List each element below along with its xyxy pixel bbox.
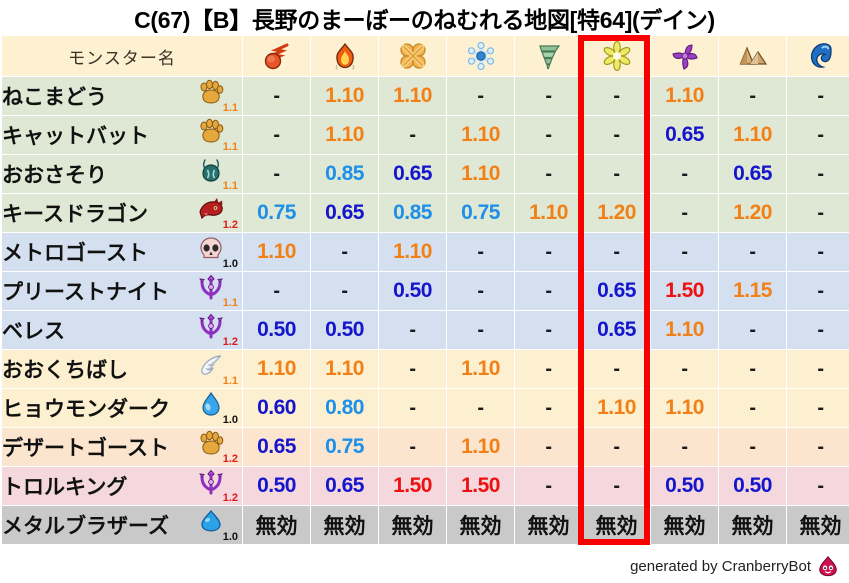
resistance-cell: -	[787, 116, 849, 154]
resistance-cell: -	[243, 77, 310, 115]
resistance-cell: 1.10	[447, 350, 514, 388]
resistance-cell: 1.10	[719, 116, 786, 154]
monster-name-cell[interactable]: おおくちばし1.1	[2, 350, 242, 388]
header-element-tornado[interactable]	[515, 36, 582, 76]
monster-family-badge: 1.0	[196, 508, 238, 542]
resistance-cell: -	[787, 311, 849, 349]
resistance-cell: -	[243, 155, 310, 193]
resistance-cell: 0.60	[243, 389, 310, 427]
resistance-cell: 0.75	[243, 194, 310, 232]
resistance-cell: -	[515, 272, 582, 310]
resistance-cell: -	[515, 350, 582, 388]
table-row: デザートゴースト1.20.650.75-1.10-----	[2, 428, 849, 466]
resistance-cell: -	[719, 389, 786, 427]
resistance-cell: -	[515, 77, 582, 115]
resistance-cell: -	[787, 155, 849, 193]
resistance-cell: 無効	[447, 506, 514, 544]
trident-icon	[198, 274, 224, 300]
resistance-cell: 0.65	[583, 272, 650, 310]
resistance-cell: -	[379, 116, 446, 154]
paw-icon	[198, 79, 224, 105]
resistance-cell: -	[515, 311, 582, 349]
monster-name-label: デザートゴースト	[2, 432, 169, 462]
resistance-cell: 1.10	[583, 389, 650, 427]
resistance-cell: 1.20	[719, 194, 786, 232]
resistance-cell: -	[447, 311, 514, 349]
resistance-cell: -	[651, 155, 718, 193]
resistance-cell: 0.65	[243, 428, 310, 466]
monster-family-badge: 1.2	[196, 430, 238, 464]
monster-name-label: メトロゴースト	[2, 237, 148, 267]
resistance-cell: 0.65	[311, 194, 378, 232]
table-row: おおさそり1.1-0.850.651.10---0.65-	[2, 155, 849, 193]
resistance-cell: 1.10	[651, 389, 718, 427]
resistance-cell: 0.50	[243, 311, 310, 349]
table-row: トロルキング1.20.500.651.501.50--0.500.50-	[2, 467, 849, 505]
resistance-cell: -	[651, 350, 718, 388]
monster-family-badge: 1.1	[196, 79, 238, 113]
resistance-cell: 0.50	[311, 311, 378, 349]
resistance-cell: -	[787, 428, 849, 466]
monster-name-label: ベレス	[2, 315, 65, 345]
paw-icon	[198, 430, 224, 456]
resistance-cell: -	[447, 233, 514, 271]
header-element-meteor[interactable]	[243, 36, 310, 76]
resistance-cell: -	[379, 350, 446, 388]
resistance-cell: 無効	[243, 506, 310, 544]
monster-name-cell[interactable]: キースドラゴン1.2	[2, 194, 242, 232]
resistance-cell: 1.10	[311, 116, 378, 154]
resistance-cell: 1.10	[651, 311, 718, 349]
resistance-cell: 無効	[719, 506, 786, 544]
monster-family-badge: 1.0	[196, 391, 238, 425]
resistance-cell: -	[583, 155, 650, 193]
header-element-explosion[interactable]	[379, 36, 446, 76]
monster-multiplier: 1.0	[223, 532, 238, 543]
table-row: おおくちばし1.11.101.10-1.10-----	[2, 350, 849, 388]
slime-icon	[198, 508, 224, 534]
resistance-cell: 0.80	[311, 389, 378, 427]
bug-icon	[198, 157, 224, 183]
resistance-cell: -	[583, 428, 650, 466]
resistance-cell: -	[719, 233, 786, 271]
header-row: モンスター名	[2, 36, 849, 76]
monster-name-cell[interactable]: トロルキング1.2	[2, 467, 242, 505]
monster-family-badge: 1.1	[196, 157, 238, 191]
monster-multiplier: 1.1	[223, 142, 238, 153]
resistance-cell: -	[583, 116, 650, 154]
monster-family-badge: 1.0	[196, 235, 238, 269]
resistance-cell: -	[787, 194, 849, 232]
resistance-cell: -	[719, 428, 786, 466]
resistance-cell: -	[311, 233, 378, 271]
resistance-cell: 1.10	[311, 350, 378, 388]
resistance-cell: -	[447, 389, 514, 427]
monster-multiplier: 1.1	[223, 181, 238, 192]
resistance-cell: 無効	[583, 506, 650, 544]
resistance-cell: -	[515, 155, 582, 193]
resistance-cell: 0.50	[651, 467, 718, 505]
monster-family-badge: 1.2	[196, 469, 238, 503]
header-element-starburst[interactable]	[583, 36, 650, 76]
resistance-cell: -	[651, 428, 718, 466]
snowflake-icon	[466, 41, 496, 71]
resistance-cell: 0.85	[379, 194, 446, 232]
resistance-cell: 0.85	[311, 155, 378, 193]
footer-text: generated by CranberryBot	[630, 558, 811, 575]
resistance-cell: 0.75	[447, 194, 514, 232]
resistance-cell: -	[447, 272, 514, 310]
table-row: ヒョウモンダーク1.00.600.80---1.101.10--	[2, 389, 849, 427]
monster-name-cell[interactable]: キャットバット1.1	[2, 116, 242, 154]
cranberry-slime-icon	[817, 555, 839, 577]
table-row: ねこまどう1.1-1.101.10---1.10--	[2, 77, 849, 115]
resistance-cell: 1.10	[311, 77, 378, 115]
paw-icon	[198, 118, 224, 144]
tornado-icon	[534, 41, 564, 71]
monster-multiplier: 1.2	[223, 337, 238, 348]
resistance-cell: 0.50	[379, 272, 446, 310]
resistance-cell: 0.65	[719, 155, 786, 193]
monster-family-badge: 1.2	[196, 313, 238, 347]
resistance-cell: -	[719, 311, 786, 349]
monster-name-cell[interactable]: メタルブラザーズ1.0	[2, 506, 242, 544]
monster-name-label: おおさそり	[2, 159, 107, 189]
table-body: ねこまどう1.1-1.101.10---1.10--キャットバット1.1-1.1…	[2, 77, 849, 544]
resistance-cell: -	[447, 77, 514, 115]
resistance-cell: 1.10	[379, 77, 446, 115]
resistance-cell: 0.65	[651, 116, 718, 154]
resistance-cell: 0.65	[311, 467, 378, 505]
resistance-cell: -	[583, 233, 650, 271]
dragon-icon	[198, 196, 224, 222]
resistance-cell: 1.10	[515, 194, 582, 232]
monster-multiplier: 1.0	[223, 259, 238, 270]
resistance-cell: 無効	[515, 506, 582, 544]
monster-name-label: キースドラゴン	[2, 198, 148, 228]
resistance-cell: -	[311, 272, 378, 310]
resistance-cell: 無効	[311, 506, 378, 544]
page-title: C(67)【B】長野のまーぼーのねむれる地図[特64](デイン)	[0, 1, 849, 34]
header-element-pinwheel[interactable]	[651, 36, 718, 76]
monster-multiplier: 1.2	[223, 220, 238, 231]
resistance-cell: -	[515, 233, 582, 271]
resistance-cell: -	[515, 428, 582, 466]
monster-multiplier: 1.2	[223, 493, 238, 504]
trident-icon	[198, 469, 224, 495]
monster-name-cell[interactable]: メトロゴースト1.0	[2, 233, 242, 271]
table-row: ベレス1.20.500.50---0.651.10--	[2, 311, 849, 349]
resistance-cell: -	[583, 350, 650, 388]
wing-icon	[198, 352, 224, 378]
resistance-cell: -	[787, 233, 849, 271]
resistance-cell: -	[243, 272, 310, 310]
resistance-cell: 1.10	[379, 233, 446, 271]
resistance-cell: 1.10	[447, 155, 514, 193]
resistance-cell: -	[719, 77, 786, 115]
explosion-icon	[398, 41, 428, 71]
resistance-cell: -	[379, 428, 446, 466]
table-row: キースドラゴン1.20.750.650.850.751.101.20-1.20-	[2, 194, 849, 232]
monster-name-cell[interactable]: ベレス1.2	[2, 311, 242, 349]
header-element-flame[interactable]	[311, 36, 378, 76]
resistance-cell: 0.65	[583, 311, 650, 349]
monster-name-label: ヒョウモンダーク	[2, 393, 170, 423]
resistance-cell: -	[651, 233, 718, 271]
table-row: メタルブラザーズ1.0無効無効無効無効無効無効無効無効無効	[2, 506, 849, 544]
resistance-cell: -	[787, 389, 849, 427]
resistance-cell: 無効	[787, 506, 849, 544]
monster-family-badge: 1.2	[196, 196, 238, 230]
resistance-cell: -	[583, 467, 650, 505]
flame-icon	[330, 41, 360, 71]
monster-name-label: ねこまどう	[2, 81, 107, 111]
resistance-cell: 1.50	[447, 467, 514, 505]
resistance-cell: 0.75	[311, 428, 378, 466]
resistance-cell: 1.10	[243, 233, 310, 271]
monster-multiplier: 1.0	[223, 415, 238, 426]
monster-name-cell[interactable]: デザートゴースト1.2	[2, 428, 242, 466]
resistance-cell: 0.65	[379, 155, 446, 193]
header-element-wave[interactable]	[787, 36, 849, 76]
resistance-cell: -	[787, 350, 849, 388]
starburst-icon	[602, 41, 632, 71]
resistance-cell: -	[243, 116, 310, 154]
resistance-cell: -	[787, 467, 849, 505]
table-row: キャットバット1.1-1.10-1.10--0.651.10-	[2, 116, 849, 154]
monster-family-badge: 1.1	[196, 274, 238, 308]
resistance-cell: 無効	[379, 506, 446, 544]
resistance-cell: -	[379, 389, 446, 427]
resistance-cell: -	[719, 350, 786, 388]
monster-name-label: トロルキング	[2, 471, 127, 501]
resistance-cell: 1.20	[583, 194, 650, 232]
monster-multiplier: 1.1	[223, 376, 238, 387]
pinwheel-icon	[670, 41, 700, 71]
monster-name-label: プリーストナイト	[2, 276, 169, 306]
resistance-cell: 1.15	[719, 272, 786, 310]
footer-credit: generated by CranberryBot	[630, 555, 839, 577]
monster-family-badge: 1.1	[196, 352, 238, 386]
resistance-cell: -	[583, 77, 650, 115]
monster-multiplier: 1.1	[223, 298, 238, 309]
resistance-cell: 1.10	[447, 116, 514, 154]
monster-family-badge: 1.1	[196, 118, 238, 152]
table-row: プリーストナイト1.1--0.50--0.651.501.15-	[2, 272, 849, 310]
resistance-cell: -	[787, 272, 849, 310]
monster-multiplier: 1.2	[223, 454, 238, 465]
wave-icon	[806, 41, 836, 71]
header-element-mountain[interactable]	[719, 36, 786, 76]
monster-name-cell[interactable]: おおさそり1.1	[2, 155, 242, 193]
droplet-icon	[198, 391, 224, 417]
resistance-cell: 1.50	[379, 467, 446, 505]
resistance-cell: -	[515, 389, 582, 427]
meteor-icon	[262, 41, 292, 71]
table-row: メトロゴースト1.01.10-1.10------	[2, 233, 849, 271]
resistance-cell: 1.10	[651, 77, 718, 115]
resistance-cell: -	[515, 467, 582, 505]
resistance-cell: -	[651, 194, 718, 232]
header-element-snowflake[interactable]	[447, 36, 514, 76]
table-head: モンスター名	[2, 36, 849, 76]
resistance-table: モンスター名	[1, 35, 849, 545]
monster-multiplier: 1.1	[223, 103, 238, 114]
resistance-cell: 無効	[651, 506, 718, 544]
resistance-cell: -	[515, 116, 582, 154]
monster-name-label: キャットバット	[2, 120, 149, 150]
monster-name-cell[interactable]: ヒョウモンダーク1.0	[2, 389, 242, 427]
trident-icon	[198, 313, 224, 339]
header-monster-name: モンスター名	[2, 36, 242, 76]
resistance-cell: 0.50	[719, 467, 786, 505]
resistance-cell: 0.50	[243, 467, 310, 505]
skull-icon	[198, 235, 224, 261]
resistance-chart-page: C(67)【B】長野のまーぼーのねむれる地図[特64](デイン) モンスター名	[0, 0, 849, 583]
resistance-cell: 1.50	[651, 272, 718, 310]
monster-name-label: メタルブラザーズ	[2, 510, 169, 540]
resistance-cell: -	[379, 311, 446, 349]
resistance-cell: -	[787, 77, 849, 115]
mountain-icon	[738, 41, 768, 71]
resistance-cell: 1.10	[243, 350, 310, 388]
monster-name-label: おおくちばし	[2, 354, 128, 384]
resistance-cell: 1.10	[447, 428, 514, 466]
monster-name-cell[interactable]: プリーストナイト1.1	[2, 272, 242, 310]
monster-name-cell[interactable]: ねこまどう1.1	[2, 77, 242, 115]
